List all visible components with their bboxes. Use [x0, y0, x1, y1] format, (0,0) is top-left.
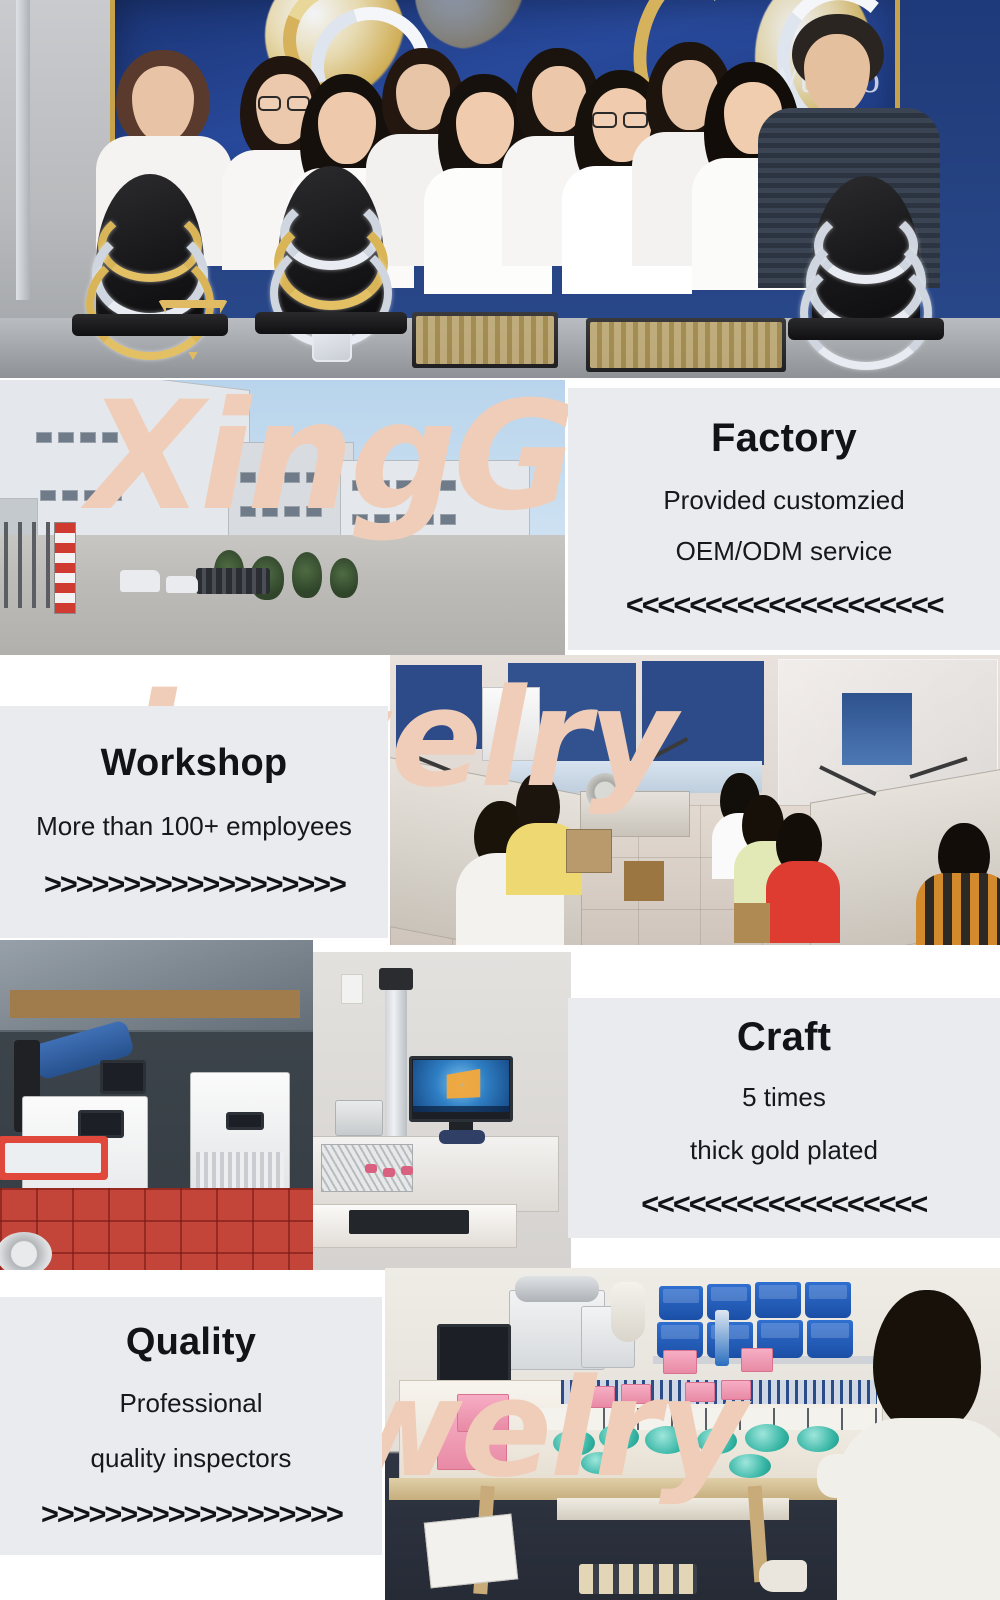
- inspector-shoe: [759, 1560, 807, 1592]
- factory-line-1: Provided customzied: [663, 485, 904, 516]
- window-blind-1: [396, 665, 482, 749]
- shelf-behind-glass: [10, 990, 300, 1018]
- jewelry-tray-2: [586, 318, 786, 372]
- clipboard: [424, 1514, 518, 1589]
- parts-bin-4: [805, 1282, 851, 1318]
- pipe-stack: [196, 568, 270, 594]
- factory-exterior-photo: [0, 380, 565, 655]
- qc-tablet-screen[interactable]: [437, 1324, 511, 1386]
- workshop-photo: [390, 655, 1000, 945]
- gem-pile-1: [553, 1430, 595, 1456]
- parked-car: [166, 576, 198, 593]
- craft-line-2: thick gold plated: [690, 1135, 878, 1166]
- laser-welder-screen: [78, 1110, 124, 1138]
- inspector-arm: [817, 1454, 877, 1498]
- pink-tray-8: [741, 1348, 773, 1372]
- pink-tray-4: [621, 1384, 651, 1404]
- quality-arrow-strip: >>>>>>>>>>>>>>>>>>>: [41, 1498, 342, 1532]
- desk-lamp-shade: [611, 1282, 645, 1342]
- parts-bin-3: [755, 1282, 801, 1318]
- product-detail-banner: Wuzho: [0, 0, 1000, 1600]
- pink-tray-7: [663, 1350, 697, 1374]
- stool-1: [734, 903, 770, 943]
- gem-pile-6: [797, 1426, 839, 1452]
- parts-tray-red: [0, 1136, 108, 1180]
- gate-hazard-stripe: [54, 522, 76, 614]
- hero-team-photo: Wuzho: [0, 0, 1000, 378]
- gem-pile-5: [745, 1424, 789, 1452]
- marking-column-top: [379, 968, 413, 990]
- taskbar: [413, 1106, 509, 1112]
- parts-bin-1: [659, 1286, 703, 1320]
- workshop-arrow-strip: >>>>>>>>>>>>>>>>>>>: [44, 868, 345, 902]
- spray-can: [715, 1310, 729, 1366]
- parts-bin-8: [807, 1320, 853, 1358]
- quality-title: Quality: [126, 1321, 256, 1364]
- pink-tray-3: [583, 1386, 615, 1408]
- gem-pile-2: [599, 1424, 639, 1450]
- bench-items-floor: [579, 1564, 697, 1594]
- pink-part-2: [383, 1168, 395, 1177]
- factory-line-2: OEM/ODM service: [676, 536, 893, 567]
- autoclave-lid: [515, 1276, 599, 1302]
- laser-welding-photo: [0, 940, 313, 1270]
- gem-pile-4: [697, 1428, 737, 1454]
- laser-marking-photo: [313, 952, 571, 1270]
- gem-pile-7: [581, 1452, 617, 1474]
- quality-line-2: quality inspectors: [91, 1443, 292, 1474]
- windows-desktop-screen: [413, 1060, 509, 1112]
- laser-welder-monitor: [100, 1060, 146, 1094]
- standing-fan: [586, 773, 624, 811]
- workshop-line-1: More than 100+ employees: [36, 811, 352, 842]
- marking-wall-socket: [341, 974, 363, 1004]
- chiller-display: [226, 1112, 264, 1130]
- pink-tray-stack-2: [457, 1394, 509, 1432]
- parts-bin-2: [707, 1284, 751, 1320]
- factory-info-panel: Factory Provided customzied OEM/ODM serv…: [568, 388, 1000, 650]
- tree-3: [292, 552, 322, 598]
- qc-table-edge: [389, 1478, 885, 1500]
- mouse-pad: [439, 1130, 485, 1144]
- carton-box: [566, 829, 612, 873]
- pink-tray-6: [721, 1380, 751, 1400]
- craft-line-1: 5 times: [742, 1082, 826, 1113]
- laser-room-window: [0, 940, 313, 1032]
- sorting-slots: [535, 1408, 881, 1430]
- stool-2: [624, 861, 664, 901]
- factory-title: Factory: [711, 416, 857, 461]
- craft-title: Craft: [737, 1015, 831, 1060]
- factory-courtyard: [0, 535, 565, 655]
- quality-info-panel: Quality Professional quality inspectors …: [0, 1297, 382, 1555]
- factory-arrow-strip: <<<<<<<<<<<<<<<<<<<<: [626, 589, 943, 623]
- quality-inspection-photo: [385, 1268, 1000, 1600]
- keyboard-in-drawer[interactable]: [349, 1210, 469, 1234]
- pink-part-1: [365, 1164, 377, 1173]
- workshop-info-panel: Workshop More than 100+ employees >>>>>>…: [0, 706, 388, 938]
- windows-logo-icon: [447, 1069, 481, 1099]
- marking-z-axis-column: [385, 982, 407, 1160]
- jewelry-tray-1: [412, 312, 558, 368]
- pink-tray-5: [685, 1382, 715, 1402]
- tree-4: [330, 558, 358, 598]
- gem-pile-3: [645, 1426, 689, 1454]
- workshop-title: Workshop: [101, 742, 288, 785]
- laser-galvo-head: [335, 1100, 383, 1136]
- pink-part-3: [401, 1166, 413, 1175]
- gem-pile-8: [729, 1454, 771, 1478]
- quality-line-1: Professional: [119, 1388, 262, 1419]
- craft-info-panel: Craft 5 times thick gold plated <<<<<<<<…: [568, 998, 1000, 1238]
- craft-arrow-strip: <<<<<<<<<<<<<<<<<<: [642, 1188, 927, 1222]
- window-bright: [842, 693, 912, 765]
- ac-unit: [482, 687, 540, 761]
- parked-van: [120, 570, 160, 592]
